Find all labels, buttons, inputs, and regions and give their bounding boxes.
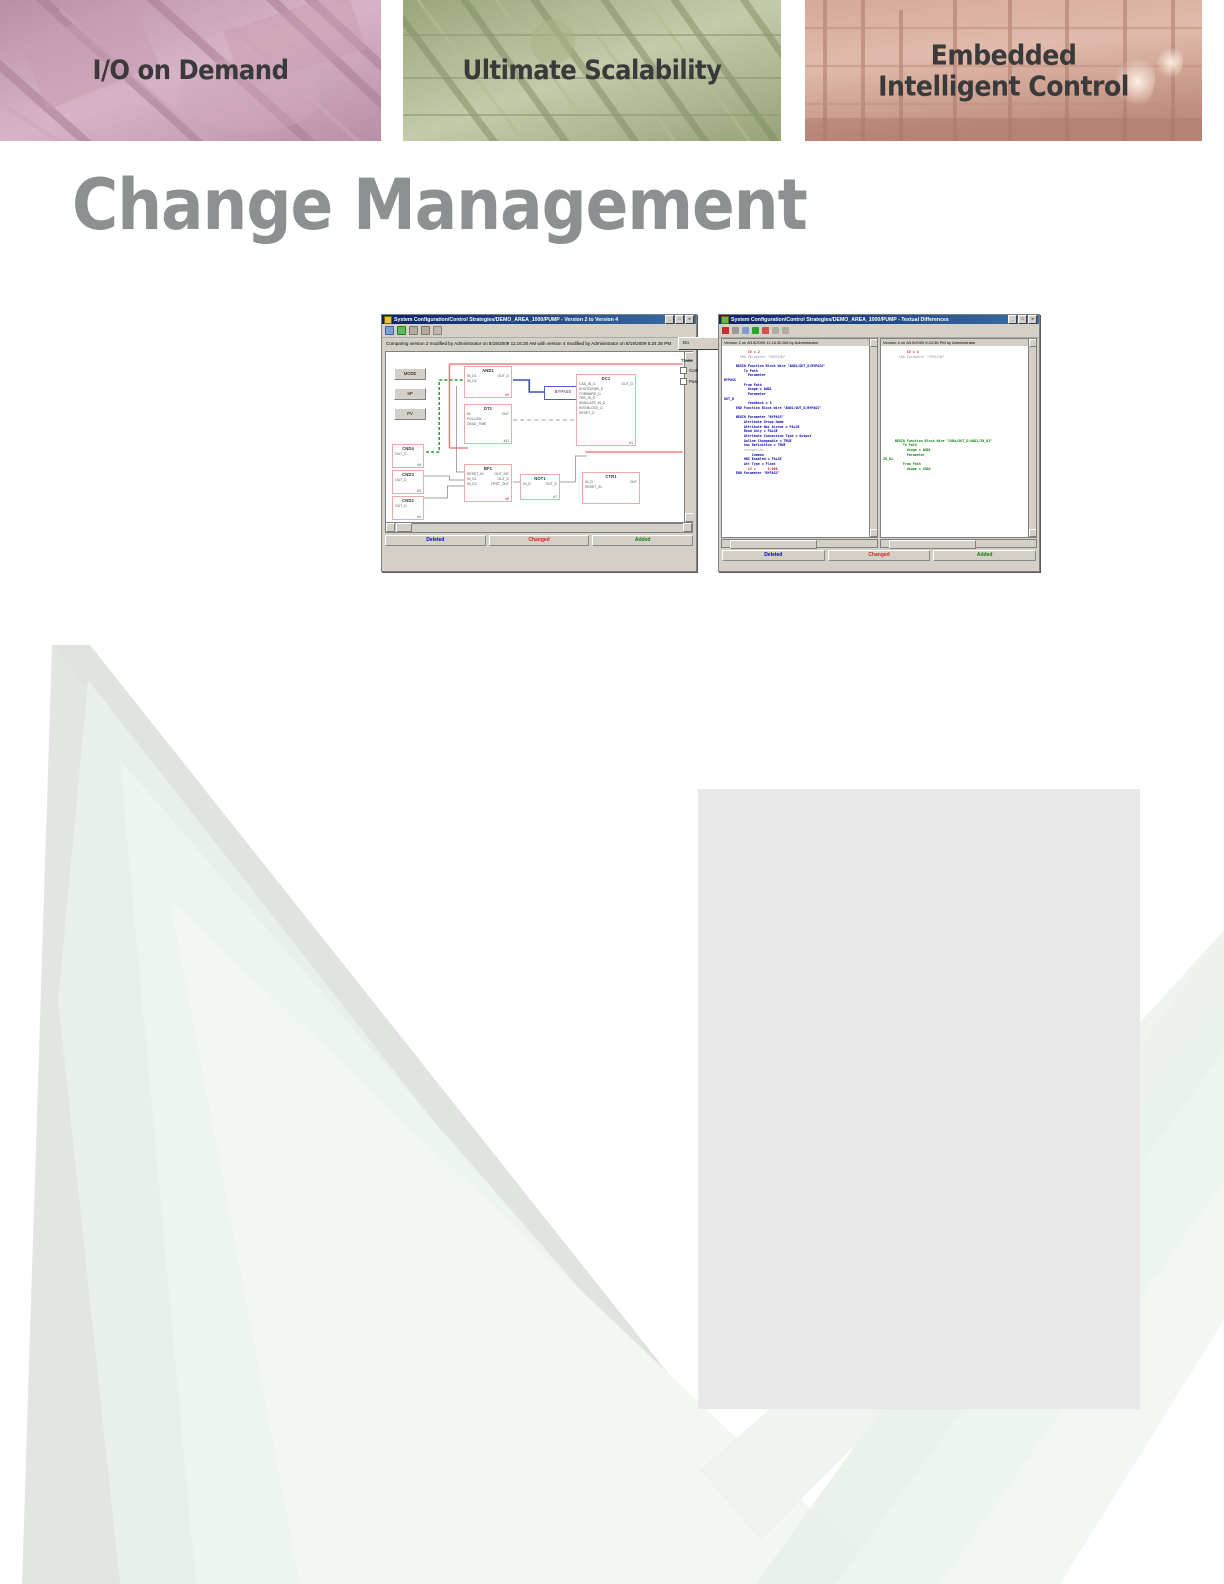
diagram-horizontal-scrollbar[interactable] bbox=[385, 523, 693, 533]
find-icon[interactable] bbox=[732, 327, 739, 334]
checkbox-box[interactable] bbox=[680, 367, 687, 374]
copy-icon[interactable] bbox=[421, 326, 430, 335]
scroll-left-arrow[interactable] bbox=[386, 523, 395, 532]
legend-changed: Changed bbox=[828, 550, 931, 561]
left-pane-header: Version 2 on 8/19/2009 11:16:30 AM by Ad… bbox=[722, 339, 877, 346]
block-id: #4 bbox=[417, 515, 421, 519]
window-2-toolbar[interactable] bbox=[719, 324, 1039, 338]
scroll-up-arrow[interactable] bbox=[1029, 339, 1037, 347]
pin-in: RESET_IN bbox=[585, 485, 602, 490]
window-1-controls[interactable]: _ □ × bbox=[665, 315, 694, 324]
function-block-dt1[interactable]: DT1 INOUT FOLLOW DEAD_TIME #11 bbox=[464, 404, 512, 444]
window-1-title-bar[interactable]: System Configuration/Control Strategies/… bbox=[382, 315, 696, 324]
pin-out: OUT_D bbox=[498, 374, 510, 379]
legend-added: Added bbox=[592, 535, 693, 546]
export-icon[interactable] bbox=[433, 326, 442, 335]
left-pane-horizontal-scrollbar[interactable] bbox=[721, 539, 878, 548]
pin-in: IN_D2 bbox=[467, 482, 477, 487]
scroll-down-arrow[interactable] bbox=[685, 513, 693, 522]
banner-2-label: Ultimate Scalability bbox=[403, 55, 781, 85]
content-placeholder-box bbox=[698, 789, 1140, 1409]
function-block-and1[interactable]: AND1 IN_D1OUT_D IN_D2 #9 bbox=[464, 366, 512, 398]
banner-1-label: I/O on Demand bbox=[0, 55, 381, 85]
right-pane-vertical-scrollbar[interactable] bbox=[1028, 339, 1036, 537]
banner-embedded-intelligent-control: Embedded Intelligent Control bbox=[805, 0, 1202, 141]
window-2-legend: Deleted Changed Added bbox=[722, 550, 1036, 561]
left-version-pane[interactable]: Version 2 on 8/19/2009 11:16:30 AM by Ad… bbox=[721, 338, 878, 538]
right-version-pane[interactable]: Version 4 on 8/19/2009 5:24:36 PM by Adm… bbox=[880, 338, 1037, 538]
next-diff-icon[interactable] bbox=[742, 327, 749, 334]
window-1-toolbar[interactable] bbox=[382, 324, 696, 338]
pin-in: DEAD_TIME bbox=[467, 422, 486, 427]
maximize-button[interactable]: □ bbox=[675, 315, 684, 324]
checkbox-label: Com bbox=[689, 368, 698, 373]
copy-icon[interactable] bbox=[782, 327, 789, 334]
close-button[interactable]: × bbox=[685, 315, 694, 324]
window-2-controls[interactable]: _ □ × bbox=[1008, 315, 1037, 324]
grid-icon[interactable] bbox=[385, 326, 394, 335]
app-icon bbox=[721, 316, 729, 324]
banner-io-on-demand: I/O on Demand bbox=[0, 0, 381, 141]
pin-out: OUT bbox=[502, 412, 509, 417]
right-pane-text[interactable]: CV = 4 END Parameter "VERSION" BEGIN Fun… bbox=[881, 348, 1028, 537]
block-pins: OUT_D bbox=[393, 451, 423, 457]
function-block-cnd4[interactable]: CND4 OUT_D #5 bbox=[392, 444, 424, 468]
checkbox-box[interactable] bbox=[680, 378, 687, 385]
pin-in: RESET_D bbox=[579, 411, 595, 416]
block-pins: RESET_INOUT_INT IN_D1OUT_D IN_D2FRST_OUT bbox=[465, 471, 511, 487]
textual-horizontal-scrollbars[interactable] bbox=[721, 539, 1037, 548]
scroll-down-arrow[interactable] bbox=[870, 529, 878, 537]
banner-3-label: Embedded Intelligent Control bbox=[805, 39, 1202, 102]
scroll-up-arrow[interactable] bbox=[870, 339, 878, 347]
block-id: #8 bbox=[505, 497, 509, 501]
changed-icon[interactable] bbox=[762, 327, 769, 334]
pin-in: IN_D2 bbox=[467, 379, 477, 384]
maximize-button[interactable]: □ bbox=[1018, 315, 1027, 324]
block-pins: CAS_IN_DOUT_D SHUTDOWN_D FORWARD_D TRK_I… bbox=[577, 381, 635, 417]
diagram-button-sp[interactable]: SP bbox=[394, 388, 426, 400]
block-pins: OUT_D bbox=[393, 477, 423, 483]
function-block-cnd2[interactable]: CND2 OUT_D #4 bbox=[392, 496, 424, 520]
scroll-thumb[interactable] bbox=[730, 540, 817, 549]
diagram-button-mode[interactable]: MODE bbox=[394, 368, 426, 380]
pin-out: OUT_D bbox=[546, 482, 558, 487]
legend-added: Added bbox=[933, 550, 1036, 561]
pin-in: IN_D bbox=[523, 482, 531, 487]
scroll-down-arrow[interactable] bbox=[1029, 529, 1037, 537]
function-block-bf1[interactable]: BF1 RESET_INOUT_INT IN_D1OUT_D IN_D2FRST… bbox=[464, 464, 512, 502]
function-block-dc1[interactable]: DC1 CAS_IN_DOUT_D SHUTDOWN_D FORWARD_D T… bbox=[576, 374, 636, 446]
block-id: #9 bbox=[505, 393, 509, 397]
window-2-title-bar[interactable]: System Configuration/Control Strategies/… bbox=[719, 315, 1039, 324]
function-block-not1[interactable]: NOT1 IN_DOUT_D #7 bbox=[520, 474, 560, 500]
scroll-thumb[interactable] bbox=[396, 523, 412, 532]
block-id: #5 bbox=[417, 463, 421, 467]
diagram-button-pv[interactable]: PV bbox=[394, 408, 426, 420]
print-icon[interactable] bbox=[409, 326, 418, 335]
minimize-button[interactable]: _ bbox=[1008, 315, 1017, 324]
added-icon[interactable] bbox=[752, 327, 759, 334]
window-graphical-differences[interactable]: System Configuration/Control Strategies/… bbox=[381, 314, 697, 572]
diff-line: END Parameter "BYPASS" bbox=[724, 471, 867, 476]
block-pins: OUT_D bbox=[393, 503, 423, 509]
right-pane-header: Version 4 on 8/19/2009 5:24:36 PM by Adm… bbox=[881, 339, 1036, 346]
pin-out: OUT_D bbox=[395, 504, 407, 509]
block-id: #11 bbox=[504, 439, 509, 443]
function-block-cnd3[interactable]: CND3 OUT_D #3 bbox=[392, 470, 424, 494]
pin-out: FRST_OUT bbox=[491, 482, 509, 487]
diff-line: Usage = CND4 bbox=[883, 467, 1026, 472]
function-block-diagram[interactable]: MODE SP PV AND1 IN_D1OUT_D IN_D2 #9 BYPA… bbox=[385, 351, 693, 523]
window-2-title-text: System Configuration/Control Strategies/… bbox=[731, 317, 1006, 323]
function-block-ctr1[interactable]: CTR1 IN_DOUT RESET_IN bbox=[582, 472, 640, 504]
font-icon[interactable] bbox=[722, 327, 729, 334]
minimize-button[interactable]: _ bbox=[665, 315, 674, 324]
left-pane-vertical-scrollbar[interactable] bbox=[869, 339, 877, 537]
legend-deleted: Deleted bbox=[385, 535, 486, 546]
checkbox-label: Posi bbox=[689, 379, 698, 384]
pin-out: OUT_D bbox=[622, 382, 634, 387]
legend-deleted: Deleted bbox=[722, 550, 825, 561]
pin-out: OUT bbox=[630, 480, 637, 485]
pin-out: OUT_D bbox=[395, 478, 407, 483]
close-button[interactable]: × bbox=[1028, 315, 1037, 324]
page-title: Change Management bbox=[72, 164, 807, 246]
block-id: #3 bbox=[417, 489, 421, 493]
block-pins: IN_DOUT RESET_IN bbox=[583, 479, 639, 490]
left-pane-text[interactable]: CV = 2 END Parameter "VERSION" BEGIN Fun… bbox=[722, 348, 869, 537]
textual-diff-panes: Version 2 on 8/19/2009 11:16:30 AM by Ad… bbox=[721, 338, 1037, 538]
prev-icon[interactable] bbox=[772, 327, 779, 334]
window-textual-differences[interactable]: System Configuration/Control Strategies/… bbox=[718, 314, 1040, 572]
app-icon bbox=[384, 316, 392, 324]
block-pins: IN_D1OUT_D IN_D2 bbox=[465, 373, 511, 384]
scroll-thumb[interactable] bbox=[889, 540, 976, 549]
scroll-right-arrow[interactable] bbox=[683, 523, 692, 532]
block-pins: INOUT FOLLOW DEAD_TIME bbox=[465, 411, 511, 427]
pin-out: OUT_D bbox=[395, 452, 407, 457]
comparison-description: Comparing version 2 modified by Administ… bbox=[382, 338, 696, 350]
banner-ultimate-scalability: Ultimate Scalability bbox=[403, 0, 781, 141]
banner-strip: I/O on Demand bbox=[0, 0, 1224, 141]
window-1-title-text: System Configuration/Control Strategies/… bbox=[394, 317, 663, 323]
block-id: #7 bbox=[553, 495, 557, 499]
window-1-legend: Deleted Changed Added bbox=[385, 535, 693, 546]
legend-changed: Changed bbox=[489, 535, 590, 546]
block-id: #1 bbox=[629, 441, 633, 445]
block-pins: IN_DOUT_D bbox=[521, 481, 559, 487]
right-pane-horizontal-scrollbar[interactable] bbox=[880, 539, 1037, 548]
compare-icon[interactable] bbox=[397, 326, 406, 335]
